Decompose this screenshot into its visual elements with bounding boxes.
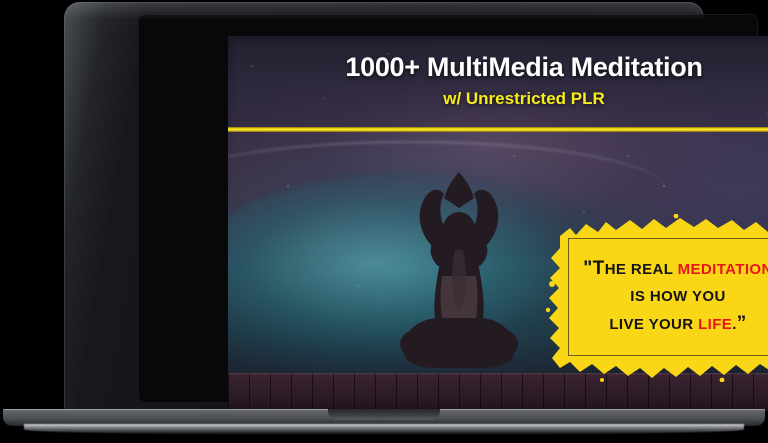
meditating-figure-icon bbox=[386, 158, 532, 378]
quote-line-2: IS HOW YOU bbox=[562, 285, 768, 309]
open-quote: " bbox=[583, 258, 592, 279]
screen-header: 1000+ MultiMedia Meditation w/ Unrestric… bbox=[228, 36, 768, 127]
laptop-screen: "THE REAL MEDITATION IS HOW YOU LIVE YOU… bbox=[228, 36, 768, 411]
quote-card: "THE REAL MEDITATION IS HOW YOU LIVE YOU… bbox=[546, 214, 768, 382]
quote-line3-a: LIVE YOUR bbox=[609, 316, 698, 333]
quote-lead-cap: T bbox=[593, 258, 605, 279]
laptop-bezel: "THE REAL MEDITATION IS HOW YOU LIVE YOU… bbox=[138, 14, 758, 403]
header-divider bbox=[228, 127, 768, 132]
page-subtitle: w/ Unrestricted PLR bbox=[228, 89, 768, 109]
laptop-base-notch bbox=[328, 409, 440, 420]
screenshot-root: "THE REAL MEDITATION IS HOW YOU LIVE YOU… bbox=[0, 0, 768, 443]
quote-line1-a: HE REAL bbox=[605, 261, 678, 278]
laptop-base-reflection bbox=[24, 424, 744, 435]
quote-keyword-meditation: MEDITATION bbox=[678, 261, 768, 278]
quote-line-3: LIVE YOUR LIFE.” bbox=[562, 309, 768, 340]
page-title: 1000+ MultiMedia Meditation bbox=[228, 52, 768, 83]
laptop-lid: "THE REAL MEDITATION IS HOW YOU LIVE YOU… bbox=[64, 2, 704, 411]
close-quote: ” bbox=[737, 313, 747, 334]
quote-text: "THE REAL MEDITATION IS HOW YOU LIVE YOU… bbox=[562, 254, 768, 340]
quote-line-1: "THE REAL MEDITATION bbox=[562, 254, 768, 285]
quote-keyword-life: LIFE bbox=[698, 316, 732, 333]
